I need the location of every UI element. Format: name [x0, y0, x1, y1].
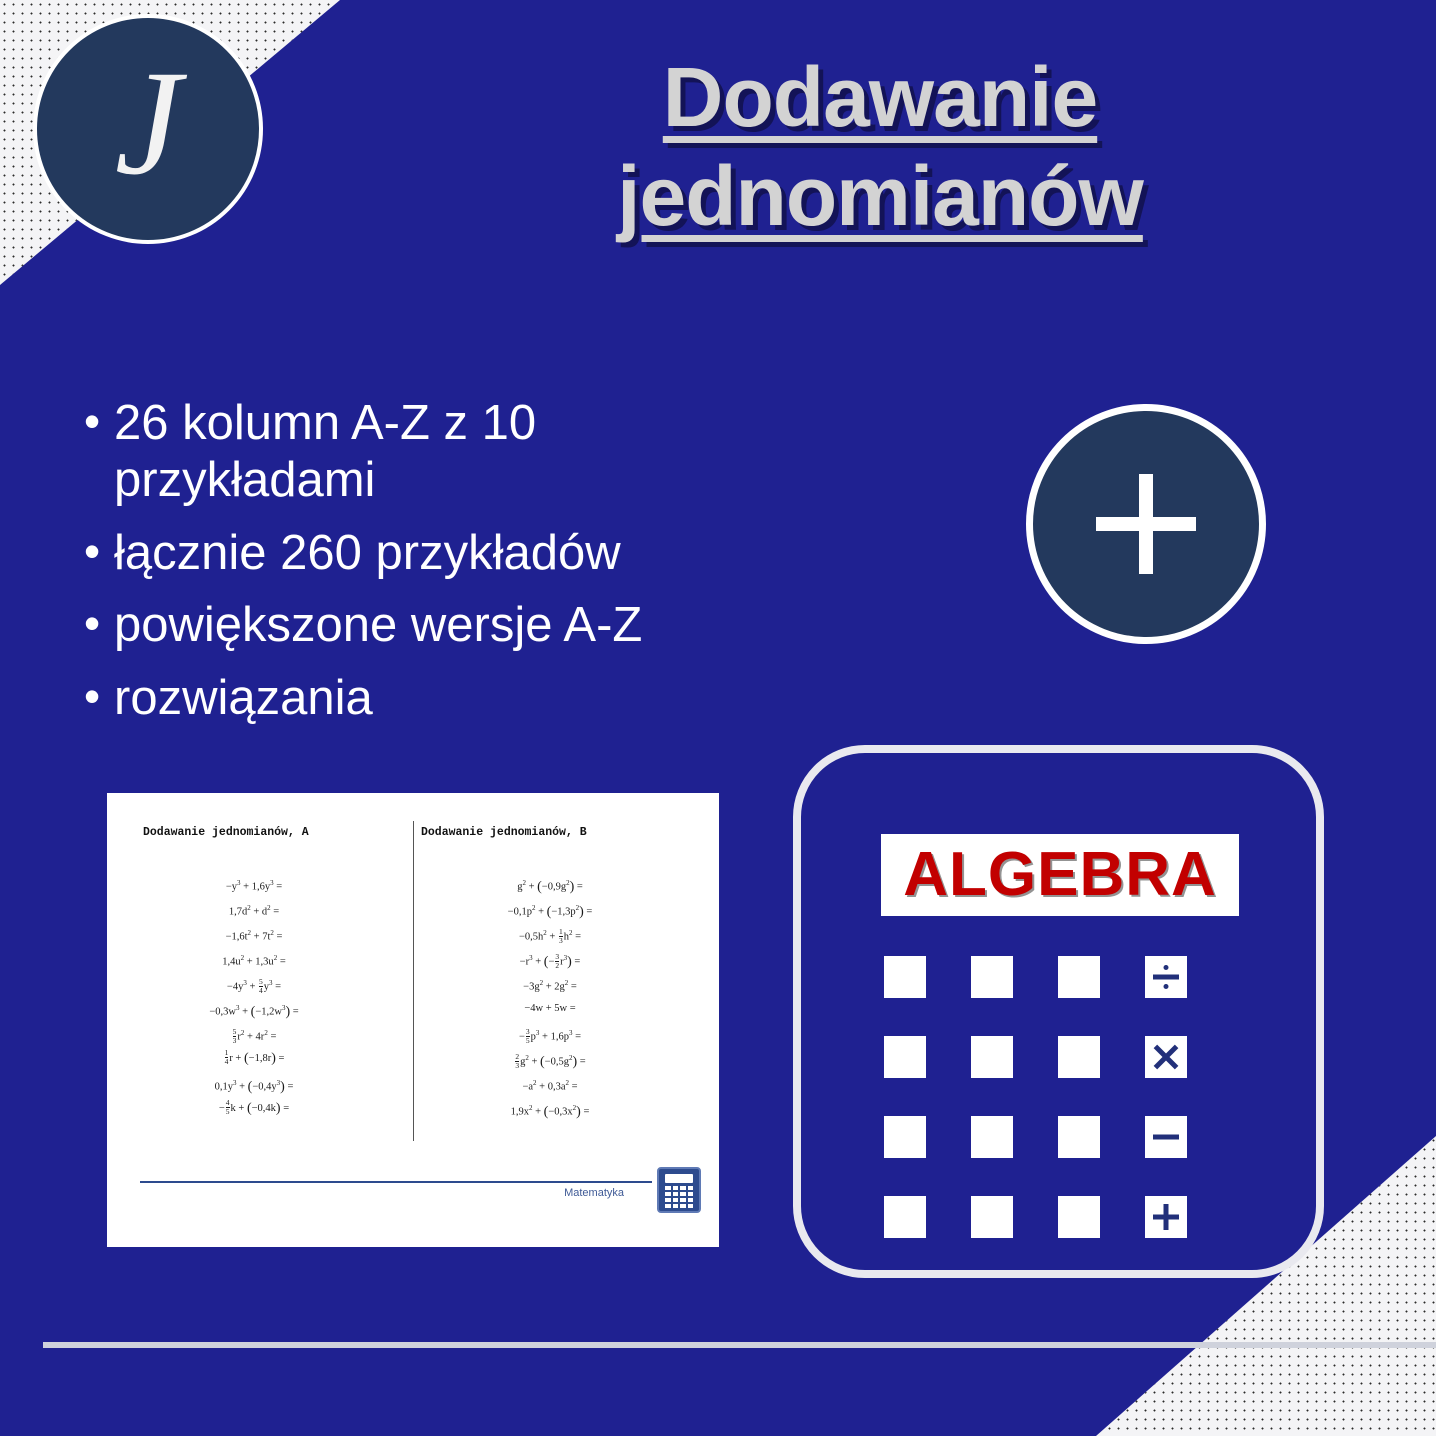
- worksheet-exercise: −0,5h2 + 13h2 =: [425, 921, 675, 946]
- multiply-key: [1145, 1036, 1187, 1078]
- worksheet-column-divider: [413, 821, 414, 1141]
- blank-key: [1058, 1196, 1100, 1238]
- worksheet-exercise: g2 + (−0,9g2) =: [425, 871, 675, 896]
- blank-key: [1058, 1116, 1100, 1158]
- bullet-icon: •: [70, 670, 114, 723]
- list-item: • łącznie 260 przykładów: [70, 525, 900, 582]
- list-item: • rozwiązania: [70, 670, 900, 727]
- worksheet-column-b-header: Dodawanie jednomianów, B: [421, 826, 587, 839]
- worksheet-footer-label: Matematyka: [564, 1187, 624, 1199]
- logo-letter: J: [115, 48, 182, 198]
- worksheet-exercise: −4w + 5w =: [425, 996, 675, 1021]
- worksheet-exercise: −35p3 + 1,6p3 =: [425, 1021, 675, 1046]
- divide-dot-top: [1164, 965, 1169, 970]
- worksheet-exercise: 1,7d2 + d2 =: [129, 896, 379, 921]
- worksheet-preview: Dodawanie jednomianów, A Dodawanie jedno…: [107, 793, 719, 1247]
- minus-key: [1145, 1116, 1187, 1158]
- plus-bar-vertical: [1164, 1204, 1169, 1230]
- worksheet-exercise: 1,9x2 + (−0,3x2) =: [425, 1096, 675, 1121]
- bullet-icon: •: [70, 395, 114, 448]
- worksheet-exercise: −45k + (−0,4k) =: [129, 1096, 379, 1121]
- worksheet-exercise: 23g2 + (−0,5g2) =: [425, 1046, 675, 1071]
- worksheet-exercise: 14r + (−1,8r) =: [129, 1046, 379, 1071]
- worksheet-exercise: −3g2 + 2g2 =: [425, 971, 675, 996]
- bottom-right-rule: [1100, 1343, 1436, 1348]
- bullet-icon: •: [70, 597, 114, 650]
- list-item-label: 26 kolumn A-Z z 10 przykładami: [114, 395, 674, 509]
- divide-bar: [1153, 975, 1179, 980]
- blank-key: [884, 1196, 926, 1238]
- blank-key: [971, 1116, 1013, 1158]
- worksheet-column-a: −y3 + 1,6y3 = 1,7d2 + d2 = −1,6t2 + 7t2 …: [129, 871, 379, 1121]
- worksheet-exercise: −0,3w3 + (−1,2w3) =: [129, 996, 379, 1021]
- blank-key: [971, 1196, 1013, 1238]
- worksheet-column-b: g2 + (−0,9g2) = −0,1p2 + (−1,3p2) = −0,5…: [425, 871, 675, 1121]
- worksheet-exercise: 53r2 + 4r2 =: [129, 1021, 379, 1046]
- calculator-icon-screen: [665, 1174, 693, 1183]
- blank-key: [884, 1036, 926, 1078]
- blank-key: [971, 956, 1013, 998]
- page-title-line-1: Dodawanie: [530, 48, 1230, 147]
- worksheet-exercise: −a2 + 0,3a2 =: [425, 1071, 675, 1096]
- worksheet-footer-rule: [140, 1181, 652, 1183]
- plus-key: [1145, 1196, 1187, 1238]
- calculator-icon: [657, 1167, 701, 1213]
- feature-bullet-list: • 26 kolumn A-Z z 10 przykładami • łączn…: [70, 395, 900, 743]
- worksheet-exercise: −y3 + 1,6y3 =: [129, 871, 379, 896]
- list-item: • powiększone wersje A-Z: [70, 597, 900, 654]
- worksheet-exercise: −0,1p2 + (−1,3p2) =: [425, 896, 675, 921]
- plus-icon: [1026, 404, 1266, 644]
- blank-key: [884, 1116, 926, 1158]
- calculator-display-text: ALGEBRA: [903, 844, 1217, 906]
- bullet-icon: •: [70, 525, 114, 578]
- plus-bar-vertical: [1139, 474, 1153, 574]
- list-item-label: rozwiązania: [114, 670, 373, 727]
- worksheet-exercise: 0,1y3 + (−0,4y3) =: [129, 1071, 379, 1096]
- blank-key: [884, 956, 926, 998]
- logo-badge: J: [33, 14, 263, 244]
- calculator-icon-keys: [665, 1186, 693, 1208]
- divide-key: [1145, 956, 1187, 998]
- page-title-line-2: jednomianów: [530, 147, 1230, 246]
- algebra-calculator-graphic: ALGEBRA: [793, 745, 1324, 1278]
- slide-canvas: J Dodawanie jednomianów • 26 kolumn A-Z …: [0, 0, 1436, 1436]
- calculator-keypad: [884, 956, 1246, 1238]
- divide-dot-bottom: [1164, 984, 1169, 989]
- worksheet-exercise: −1,6t2 + 7t2 =: [129, 921, 379, 946]
- worksheet-exercise: −4y3 + 54y3 =: [129, 971, 379, 996]
- list-item: • 26 kolumn A-Z z 10 przykładami: [70, 395, 900, 509]
- calculator-display: ALGEBRA: [881, 834, 1239, 916]
- blank-key: [1058, 1036, 1100, 1078]
- list-item-label: powiększone wersje A-Z: [114, 597, 642, 654]
- blank-key: [1058, 956, 1100, 998]
- page-title: Dodawanie jednomianów: [530, 48, 1230, 246]
- worksheet-column-a-header: Dodawanie jednomianów, A: [143, 826, 309, 839]
- worksheet-exercise: −r3 + (−32r3) =: [425, 946, 675, 971]
- blank-key: [971, 1036, 1013, 1078]
- worksheet-exercise: 1,4u2 + 1,3u2 =: [129, 946, 379, 971]
- list-item-label: łącznie 260 przykładów: [114, 525, 621, 582]
- minus-bar: [1153, 1135, 1179, 1140]
